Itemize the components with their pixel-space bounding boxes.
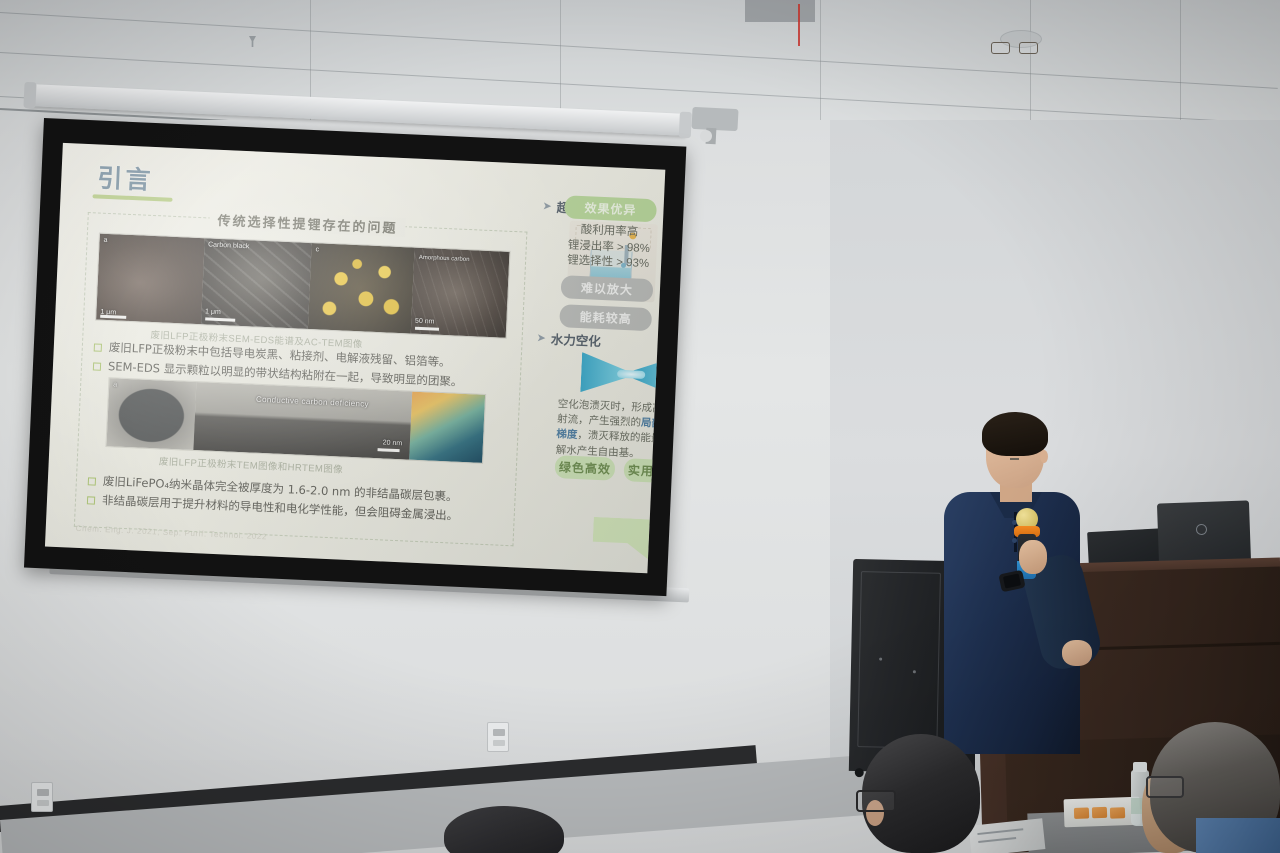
bullet-square-icon xyxy=(94,343,102,351)
sem-panel-b: Carbon black 1 μm xyxy=(201,238,312,329)
status-badge-green-efficient: 绿色高效 xyxy=(554,455,615,481)
sem-panel-c-letter: c xyxy=(315,246,319,253)
sem-panel-d: Amorphous carbon 50 nm xyxy=(410,248,509,338)
hydrodynamic-section-heading: ➤ 水力空化 xyxy=(536,328,601,350)
projector-lens-icon xyxy=(700,130,712,142)
sem-panel-d-label: Amorphous carbon xyxy=(419,255,470,263)
tem-panel-b-label: Conductive carbon deficiency xyxy=(256,395,369,409)
sem-panel-b-label: Carbon black xyxy=(208,241,250,250)
presenter-hand-holding-mic xyxy=(1019,540,1047,574)
sem-panel-b-scale: 1 μm xyxy=(205,308,221,316)
tem-panel-a-letter: a xyxy=(113,381,117,388)
tem-panel-a: a xyxy=(106,378,196,450)
tem-panel-b: Conductive carbon deficiency 20 nm xyxy=(193,382,412,460)
title-underline xyxy=(92,194,172,202)
presenter-hand-resting xyxy=(1062,640,1092,666)
audience-right-shirt xyxy=(1196,818,1280,853)
status-badge-hard-to-scale: 难以放大 xyxy=(561,275,654,302)
conference-room: 引言 Chem. Eng. J. 2021; Sep. Purif. Techn… xyxy=(0,0,1280,853)
presentation-slide: 引言 Chem. Eng. J. 2021; Sep. Purif. Techn… xyxy=(45,143,665,573)
bullet-square-icon xyxy=(88,477,96,485)
presenter-glasses-bridge xyxy=(1010,458,1019,460)
projection-screen: 引言 Chem. Eng. J. 2021; Sep. Purif. Techn… xyxy=(24,118,686,596)
sem-eds-image-strip: a 1 μm Carbon black 1 μm c Amorphous car… xyxy=(95,233,511,339)
bullet-square-icon xyxy=(93,363,101,371)
ceiling-air-vent xyxy=(745,0,815,22)
metric-li-selectivity: 锂选择性 > 93% xyxy=(562,253,655,273)
snack-tray xyxy=(1064,797,1141,828)
hydrodynamic-description: 空化泡溃灭时，形成高速微射流，产生强烈的局部剪切梯度，溃灭释放的能量可裂解水产生… xyxy=(555,397,665,464)
hydro-text-line3: ，溃灭释 xyxy=(577,429,619,443)
presenter-shirt-button xyxy=(1012,538,1017,543)
tem-panel-c xyxy=(409,392,485,463)
bullet-square-icon xyxy=(87,497,95,505)
status-badge-practical-value: 实用价值 xyxy=(623,458,665,484)
hydro-text-line2: 产生强烈的 xyxy=(588,415,641,429)
tem-panel-b-scale: 20 nm xyxy=(383,439,403,447)
status-badge-excellent: 效果优异 xyxy=(564,195,657,222)
sem-panel-c: c xyxy=(308,243,414,333)
audience-left-glasses xyxy=(856,790,896,812)
section-label: 水力空化 xyxy=(550,329,601,350)
slide-corner-decoration xyxy=(592,517,650,559)
ultrasonic-results-panel: 效果优异 酸利用率高 锂浸出率 > 98% 锂选择性 > 93% 难以放大 能耗… xyxy=(559,195,657,331)
audience-right-glasses xyxy=(1146,776,1184,798)
chevron-right-icon: ➤ xyxy=(536,331,546,344)
sem-panel-a-letter: a xyxy=(103,237,107,244)
presenter-ear xyxy=(1040,450,1048,463)
chevron-right-icon: ➤ xyxy=(542,199,552,212)
screenshot-root: 引言 Chem. Eng. J. 2021; Sep. Purif. Techn… xyxy=(0,0,1280,853)
bottle-cap xyxy=(1133,762,1147,772)
presenter-glasses-left-lens xyxy=(991,42,1010,54)
sem-panel-a: a 1 μm xyxy=(96,234,204,325)
ceiling-wire xyxy=(798,4,800,46)
venturi-cavitation-illustration xyxy=(580,352,665,396)
wall-outlet xyxy=(31,782,53,812)
slide-title: 引言 xyxy=(97,158,155,196)
status-badge-high-energy: 能耗较高 xyxy=(559,304,652,331)
wall-outlet xyxy=(487,722,509,752)
hydrodynamic-badges: 绿色高效 实用价值 xyxy=(554,455,665,484)
sem-panel-d-scale: 50 nm xyxy=(415,318,435,326)
printed-handout xyxy=(969,818,1046,853)
presenter-hair xyxy=(982,412,1048,456)
presenter-glasses-right-lens xyxy=(1019,42,1038,54)
